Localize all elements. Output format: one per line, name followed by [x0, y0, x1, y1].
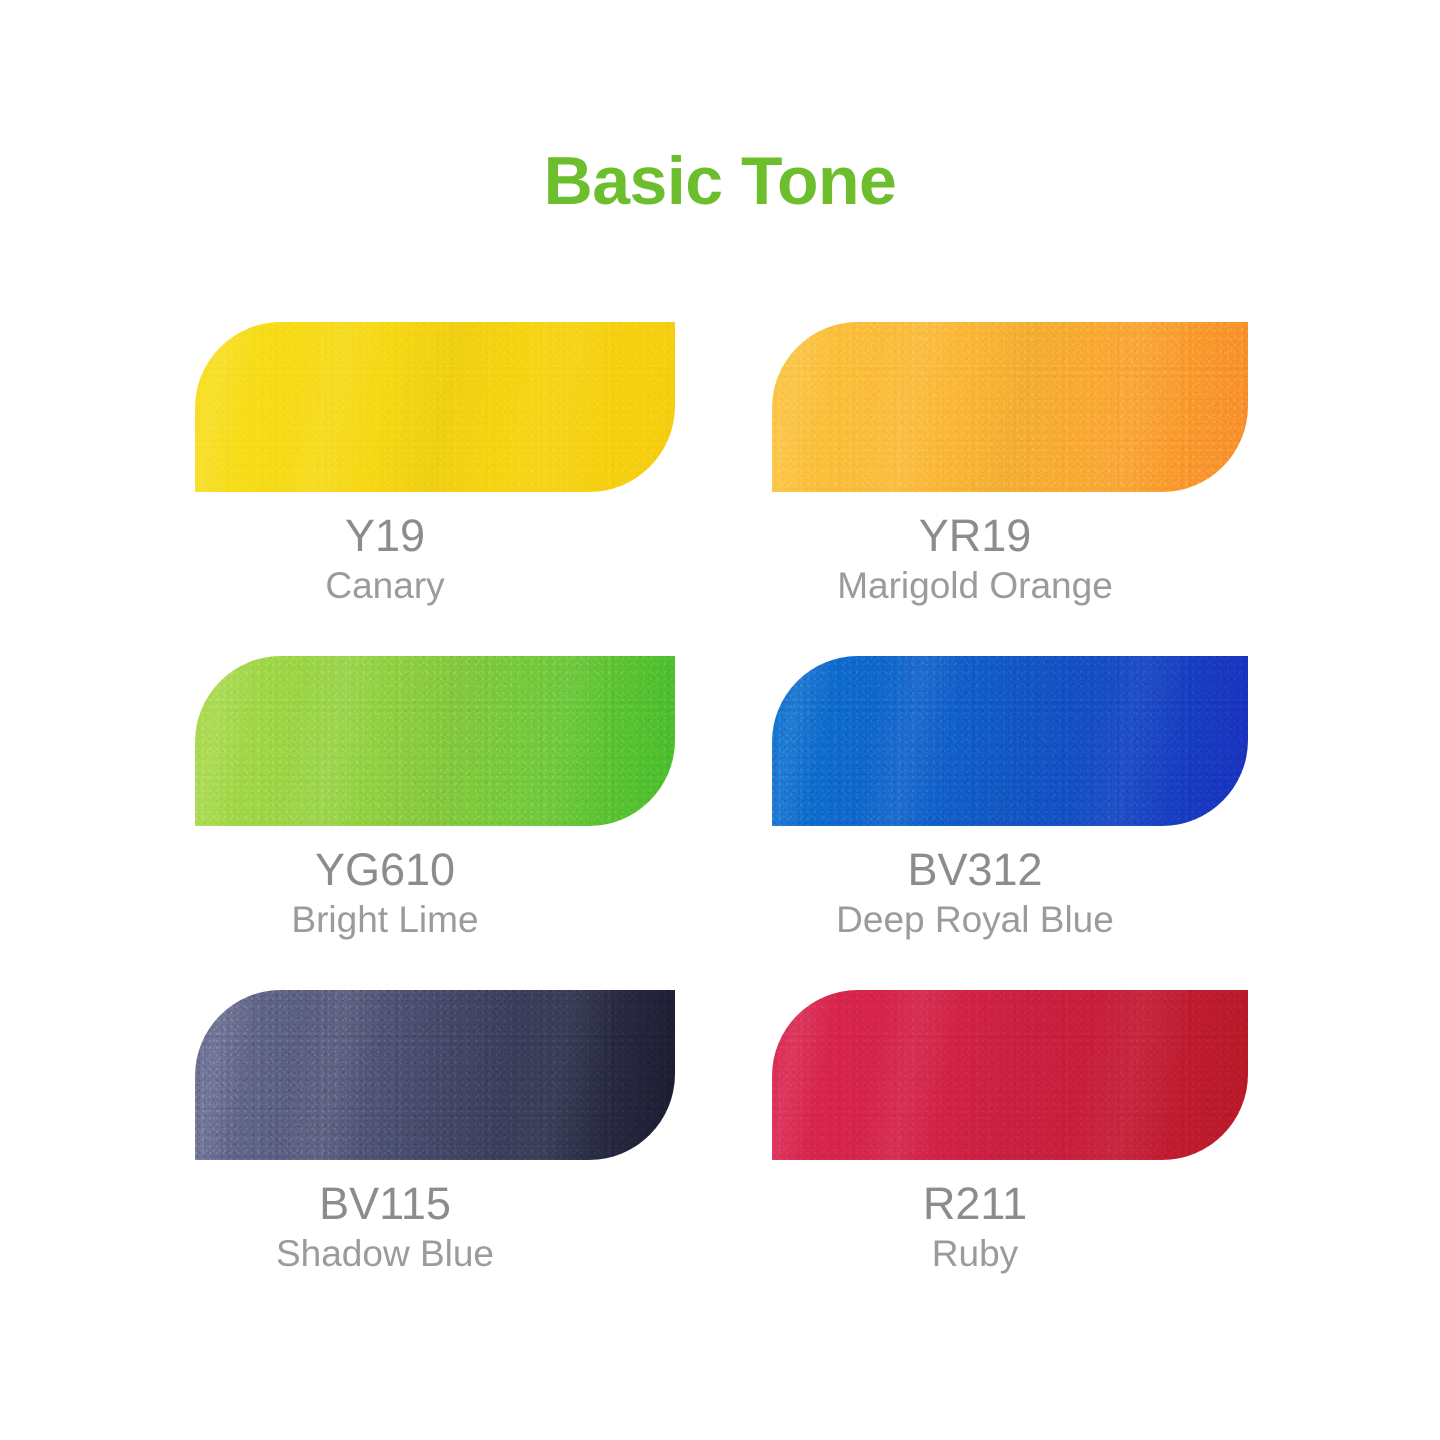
color-swatch-r211[interactable]: [772, 990, 1248, 1160]
swatch-code: BV312: [685, 846, 1265, 894]
swatch-row: BV115 Shadow Blue R211 Ruby: [0, 990, 1440, 1324]
paper-grain-overlay: [195, 990, 675, 1160]
swatch-labels: BV115 Shadow Blue: [95, 1160, 675, 1274]
paper-grain-overlay: [772, 322, 1248, 492]
color-swatch-y19[interactable]: [195, 322, 675, 492]
ink-streaks-overlay: [772, 990, 1248, 1160]
page-title: Basic Tone: [0, 147, 1440, 215]
swatch-code: R211: [685, 1180, 1265, 1228]
swatch-grid: Y19 Canary YR19 Marigold Orange: [0, 322, 1440, 1324]
ink-streaks-overlay: [772, 322, 1248, 492]
ink-streaks-overlay: [772, 656, 1248, 826]
swatch-wrap: [95, 990, 675, 1160]
swatch-cell-y19[interactable]: Y19 Canary: [95, 322, 675, 492]
swatch-cell-bv312[interactable]: BV312 Deep Royal Blue: [685, 656, 1265, 826]
swatch-name: Ruby: [685, 1234, 1265, 1275]
swatch-name: Canary: [95, 566, 675, 607]
swatch-labels: YG610 Bright Lime: [95, 826, 675, 940]
ink-streaks-overlay: [195, 322, 675, 492]
paper-grain-overlay: [772, 656, 1248, 826]
swatch-labels: BV312 Deep Royal Blue: [685, 826, 1265, 940]
color-swatch-bv115[interactable]: [195, 990, 675, 1160]
swatch-wrap: [685, 656, 1265, 826]
swatch-row: YG610 Bright Lime BV312 Deep Royal Blue: [0, 656, 1440, 990]
swatch-name: Deep Royal Blue: [685, 900, 1265, 941]
swatch-name: Bright Lime: [95, 900, 675, 941]
swatch-labels: YR19 Marigold Orange: [685, 492, 1265, 606]
swatch-cell-r211[interactable]: R211 Ruby: [685, 990, 1265, 1160]
swatch-code: Y19: [95, 512, 675, 560]
swatch-wrap: [685, 990, 1265, 1160]
swatch-name: Marigold Orange: [685, 566, 1265, 607]
swatch-name: Shadow Blue: [95, 1234, 675, 1275]
swatch-wrap: [95, 656, 675, 826]
swatch-row: Y19 Canary YR19 Marigold Orange: [0, 322, 1440, 656]
paper-grain-overlay: [195, 322, 675, 492]
swatch-wrap: [95, 322, 675, 492]
color-swatch-yr19[interactable]: [772, 322, 1248, 492]
color-swatch-bv312[interactable]: [772, 656, 1248, 826]
swatch-code: BV115: [95, 1180, 675, 1228]
ink-streaks-overlay: [195, 990, 675, 1160]
swatch-cell-yg610[interactable]: YG610 Bright Lime: [95, 656, 675, 826]
swatch-wrap: [685, 322, 1265, 492]
ink-streaks-overlay: [195, 656, 675, 826]
swatch-labels: R211 Ruby: [685, 1160, 1265, 1274]
paper-grain-overlay: [195, 656, 675, 826]
color-swatch-yg610[interactable]: [195, 656, 675, 826]
swatch-cell-bv115[interactable]: BV115 Shadow Blue: [95, 990, 675, 1160]
paper-grain-overlay: [772, 990, 1248, 1160]
swatch-labels: Y19 Canary: [95, 492, 675, 606]
swatch-cell-yr19[interactable]: YR19 Marigold Orange: [685, 322, 1265, 492]
swatch-code: YR19: [685, 512, 1265, 560]
swatch-code: YG610: [95, 846, 675, 894]
color-chart-page: Basic Tone Y19 Canary: [0, 0, 1440, 1440]
